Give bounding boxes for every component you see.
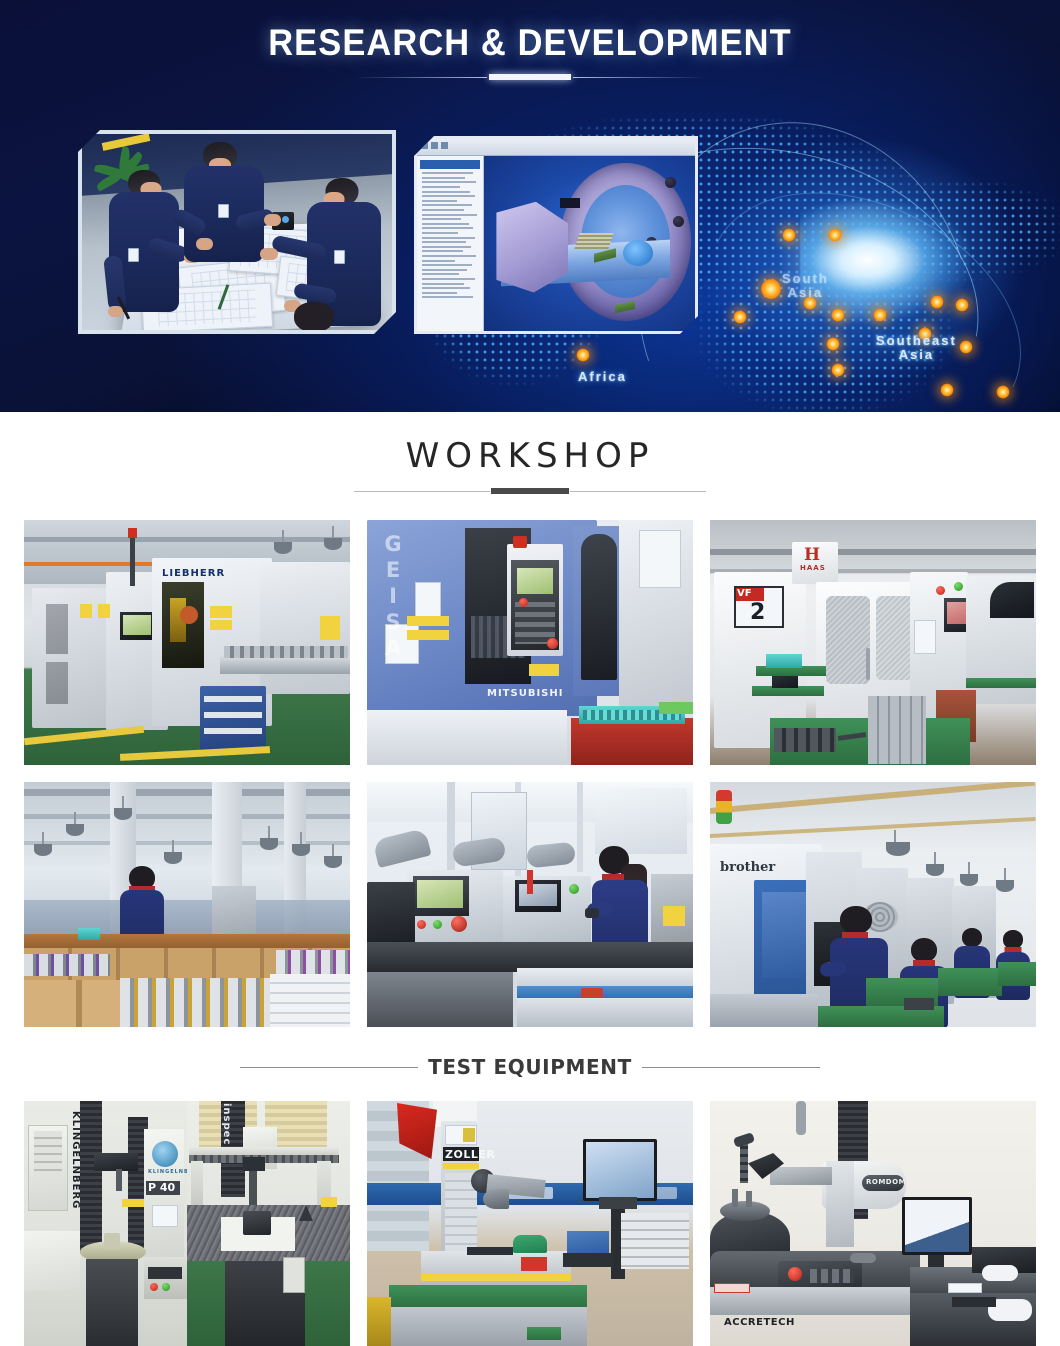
keyboard-icon[interactable] (952, 1297, 996, 1307)
workshop-section: WORKSHOP (0, 412, 1060, 1027)
machine-base (710, 994, 818, 1027)
map-hotspot-icon (760, 278, 782, 300)
fixture-top (720, 1201, 770, 1221)
yellow-equipment (367, 1297, 391, 1346)
title-divider (354, 74, 706, 80)
boxed-goods (270, 974, 350, 1027)
test-equipment-section: TEST EQUIPMENT KLINGELNBERG P 40 KLINGEL… (0, 1055, 1060, 1346)
divider-line-right (573, 77, 706, 78)
map-hotspot-icon (918, 327, 932, 341)
map-hotspot-icon (576, 348, 590, 362)
map-hotspot-icon (959, 340, 973, 354)
keyway-detail (560, 198, 580, 208)
brand-logo-subtext: KLINGELNBERG (148, 1169, 187, 1175)
photo-card-automated-production-line (367, 782, 693, 1027)
red-panel (521, 1257, 547, 1271)
machine-door-panel (762, 892, 806, 978)
machine-base (367, 710, 567, 765)
stacked-rollers (276, 950, 350, 974)
badge-label-vf: VF (737, 588, 752, 599)
monitor (902, 1197, 972, 1255)
photo-card-zoller-tool-presetter: ZOLLER (367, 1101, 693, 1346)
monitor (583, 1139, 657, 1201)
divider-center-block (491, 488, 569, 494)
section-title-test-equipment: TEST EQUIPMENT (428, 1055, 632, 1079)
divider-center-block (489, 74, 571, 80)
handheld-controller (283, 1257, 305, 1293)
parts-on-bench (904, 998, 934, 1010)
green-item (659, 702, 693, 714)
red-marking (581, 988, 603, 998)
support-rod (796, 1101, 806, 1135)
signal-light-icon (128, 528, 137, 538)
measuring-column (80, 1101, 102, 1253)
hero-photo-engineers-reviewing-blueprints (78, 130, 396, 334)
map-hotspot-icon (826, 337, 840, 351)
device-base (563, 1253, 613, 1267)
shelf-green (966, 678, 1036, 688)
map-hotspot-icon (930, 295, 944, 309)
brand-label-mitsubishi: MITSUBISHI (487, 688, 563, 699)
tooling-blocks (774, 728, 836, 752)
monitor-mount (599, 1197, 637, 1209)
divider-line-right (570, 491, 706, 492)
model-label-p40: P 40 (148, 1181, 175, 1194)
brand-label-klingelnberg: KLINGELNBERG (70, 1111, 81, 1209)
brand-label-accretech: ACCRETECH (724, 1317, 795, 1328)
divider-line-left (354, 491, 490, 492)
cad-3d-viewport (484, 156, 695, 331)
indicator-light (527, 870, 533, 894)
work-bench-green (938, 968, 1002, 996)
workpiece-detail (180, 606, 198, 624)
side-cabinet (24, 1231, 80, 1291)
map-hotspot-icon (782, 228, 796, 242)
workshop-heading: WORKSHOP (0, 436, 1060, 494)
workpiece (104, 1233, 120, 1249)
tooling-row (224, 646, 348, 658)
photo-card-haas-vf2-machining-center: VF 2 H HAAS (710, 520, 1036, 765)
brand-label-brother: brother (720, 860, 775, 875)
photo-card-accretech-cmm: ROMDOM ACCRETECH (710, 1101, 1036, 1346)
cmm-probe-stylus (249, 1165, 257, 1209)
spindle-unit (367, 882, 415, 948)
probe-stylus (740, 1141, 748, 1183)
conveyor-table (220, 656, 350, 674)
photo-card-klingelnberg-p40-gear-tester: KLINGELNBERG P 40 KLINGELNBERG (24, 1101, 350, 1346)
keyboard-icon (467, 1247, 513, 1255)
inspec-cmm-subimage: inspec (187, 1101, 350, 1346)
photo-card-mitsubishi-geisa-gear-shaper: GEISA MITSUBISHI (367, 520, 693, 765)
person-head-foreground (294, 302, 334, 332)
page-title-research-development: RESEARCH & DEVELOPMENT (37, 22, 1023, 64)
conveyor-front (517, 998, 693, 1027)
map-hotspot-icon (828, 228, 842, 242)
test-equipment-heading: TEST EQUIPMENT (0, 1055, 1060, 1079)
emergency-stop-icon (451, 916, 467, 932)
machine-base (86, 1259, 138, 1346)
research-and-development-section: Africa Southeast Asia South Asia RESEARC… (0, 0, 1060, 412)
brand-label-zoller: ZOLLER (445, 1148, 495, 1161)
photo-card-brother-cnc-machining-line: brother (710, 782, 1036, 1027)
divider-line-left (354, 77, 487, 78)
machine-foreground (367, 972, 513, 1027)
engineers-scene (82, 134, 392, 330)
photo-card-liebherr-cnc-gear-machine: LIEBHERR (24, 520, 350, 765)
section-title-workshop: WORKSHOP (0, 436, 1060, 476)
map-hotspot-icon (803, 296, 817, 310)
robot-arm (526, 842, 576, 869)
map-hotspot-icon (831, 308, 845, 322)
stacked-rollers (120, 978, 270, 1027)
robot-arm (372, 828, 431, 868)
brand-logo-klingelnberg (152, 1141, 178, 1167)
brand-label-romdom: ROMDOM (866, 1178, 906, 1186)
emergency-button-icon (513, 536, 527, 548)
gloved-hand (982, 1265, 1018, 1281)
probe-stylus (116, 1169, 122, 1191)
stacked-rollers (24, 954, 110, 976)
map-hotspot-icon (873, 308, 887, 322)
heading-rule-left (240, 1067, 418, 1068)
operator-photo-badge (463, 1128, 475, 1142)
cad-application-window (417, 139, 695, 331)
door-handle (866, 648, 870, 680)
fixture-pin (746, 1191, 752, 1207)
keyboard-tray (144, 1259, 187, 1299)
hero-photo-cad-gearbox-cross-section (414, 136, 698, 334)
cmm-probe-head (243, 1157, 265, 1171)
test-equipment-photo-grid: KLINGELNBERG P 40 KLINGELNBERG (0, 1079, 1060, 1346)
fixture-pin (732, 1189, 738, 1207)
map-hotspot-icon (955, 298, 969, 312)
bench-label (527, 1327, 561, 1340)
cad-window-titlebar (417, 139, 695, 156)
cad-panel-header (420, 160, 480, 169)
shim-stack-model (574, 233, 613, 249)
heading-rule-right (642, 1067, 820, 1068)
camera-optics (483, 1189, 509, 1209)
machine-door-window (826, 596, 870, 684)
work-bench-green (389, 1285, 587, 1309)
person-engineer-center (174, 142, 274, 292)
console-buttons[interactable] (810, 1269, 854, 1283)
signal-post (130, 534, 135, 586)
handheld-part (585, 908, 599, 918)
brand-logo-haas: H (804, 546, 826, 564)
brand-label-geisa: GEISA (381, 532, 405, 662)
map-hotspot-icon (733, 310, 747, 324)
shelf-rack (34, 1131, 62, 1177)
brand-label-liebherr: LIEBHERR (162, 568, 225, 579)
green-cap (513, 1235, 547, 1253)
workpiece (243, 1211, 271, 1235)
signal-tower-light-icon (716, 790, 732, 824)
emergency-stop-icon[interactable] (788, 1267, 802, 1281)
brand-label-haas: HAAS (800, 564, 826, 572)
map-hotspot-icon (940, 383, 954, 397)
photo-card-assembly-warehouse-floor (24, 782, 350, 1027)
cad-properties-panel (417, 156, 484, 331)
parts-tray (766, 654, 802, 668)
work-bench-green (998, 962, 1036, 986)
tool-cart (571, 718, 693, 765)
cmm-arm (770, 1167, 832, 1185)
klingelnberg-subimage: KLINGELNBERG P 40 KLINGELNBERG (24, 1101, 187, 1346)
map-hotspot-icon (831, 363, 845, 377)
tool-holder-rack (868, 696, 926, 764)
keyboard-icon (148, 1267, 182, 1279)
map-hotspot-icon (996, 385, 1010, 399)
joystick[interactable] (850, 1253, 876, 1263)
window-frame (595, 788, 687, 854)
badge-number-2: 2 (750, 600, 765, 625)
wall-vent (621, 1213, 689, 1269)
brand-label-inspec: inspec (221, 1103, 232, 1145)
workshop-photo-grid: LIEBHERR (0, 494, 1060, 1027)
